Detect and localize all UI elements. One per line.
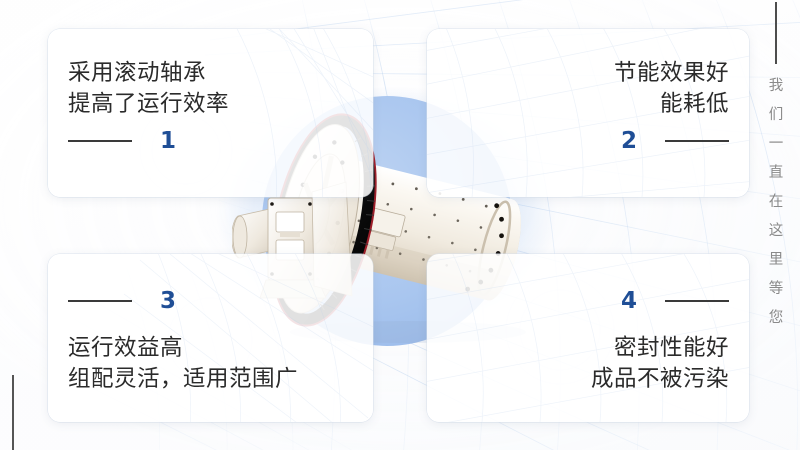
feature-card-1-number-row: 1 <box>68 128 176 154</box>
promo-banner: 采用滚动轴承 提高了运行效率 1 <box>0 0 800 450</box>
feature-card-3-text: 运行效益高 组配灵活，适用范围广 <box>68 332 298 394</box>
feature-card-3[interactable]: 3 运行效益高 组配灵活，适用范围广 <box>48 254 373 422</box>
feature-line: 组配灵活，适用范围广 <box>68 363 298 394</box>
feature-card-4-number-row: 4 <box>621 288 729 314</box>
right-accent-rule <box>775 2 777 64</box>
feature-line: 成品不被污染 <box>591 363 729 394</box>
feature-card-1-number: 1 <box>160 130 176 153</box>
feature-card-4-number: 4 <box>621 290 637 313</box>
vertical-char: 们 <box>764 101 788 130</box>
feature-card-2[interactable]: 节能效果好 能耗低 2 <box>427 29 749 197</box>
feature-card-4-text: 密封性能好 成品不被污染 <box>591 332 729 394</box>
feature-line: 节能效果好 <box>614 57 729 88</box>
vertical-char: 里 <box>764 246 788 275</box>
feature-line: 运行效益高 <box>68 332 298 363</box>
left-accent-rule <box>12 375 14 450</box>
vertical-char: 这 <box>764 217 788 246</box>
vertical-side-note: 我 们 一 直 在 这 里 等 您 <box>764 72 788 333</box>
feature-line: 提高了运行效率 <box>68 88 229 119</box>
divider-rule <box>665 300 729 302</box>
divider-rule <box>68 300 132 302</box>
vertical-char: 等 <box>764 275 788 304</box>
feature-line: 采用滚动轴承 <box>68 57 229 88</box>
feature-card-2-number-row: 2 <box>621 128 729 154</box>
feature-line: 能耗低 <box>614 88 729 119</box>
vertical-char: 一 <box>764 130 788 159</box>
feature-card-2-number: 2 <box>621 130 637 153</box>
vertical-char: 您 <box>764 304 788 333</box>
vertical-char: 在 <box>764 188 788 217</box>
vertical-char: 直 <box>764 159 788 188</box>
vertical-char: 我 <box>764 72 788 101</box>
divider-rule <box>665 140 729 142</box>
feature-card-3-number-row: 3 <box>68 288 176 314</box>
divider-rule <box>68 140 132 142</box>
feature-card-1-text: 采用滚动轴承 提高了运行效率 <box>68 57 229 119</box>
feature-card-3-number: 3 <box>160 290 176 313</box>
feature-card-4[interactable]: 4 密封性能好 成品不被污染 <box>427 254 749 422</box>
feature-card-1[interactable]: 采用滚动轴承 提高了运行效率 1 <box>48 29 373 197</box>
feature-line: 密封性能好 <box>591 332 729 363</box>
feature-card-2-text: 节能效果好 能耗低 <box>614 57 729 119</box>
